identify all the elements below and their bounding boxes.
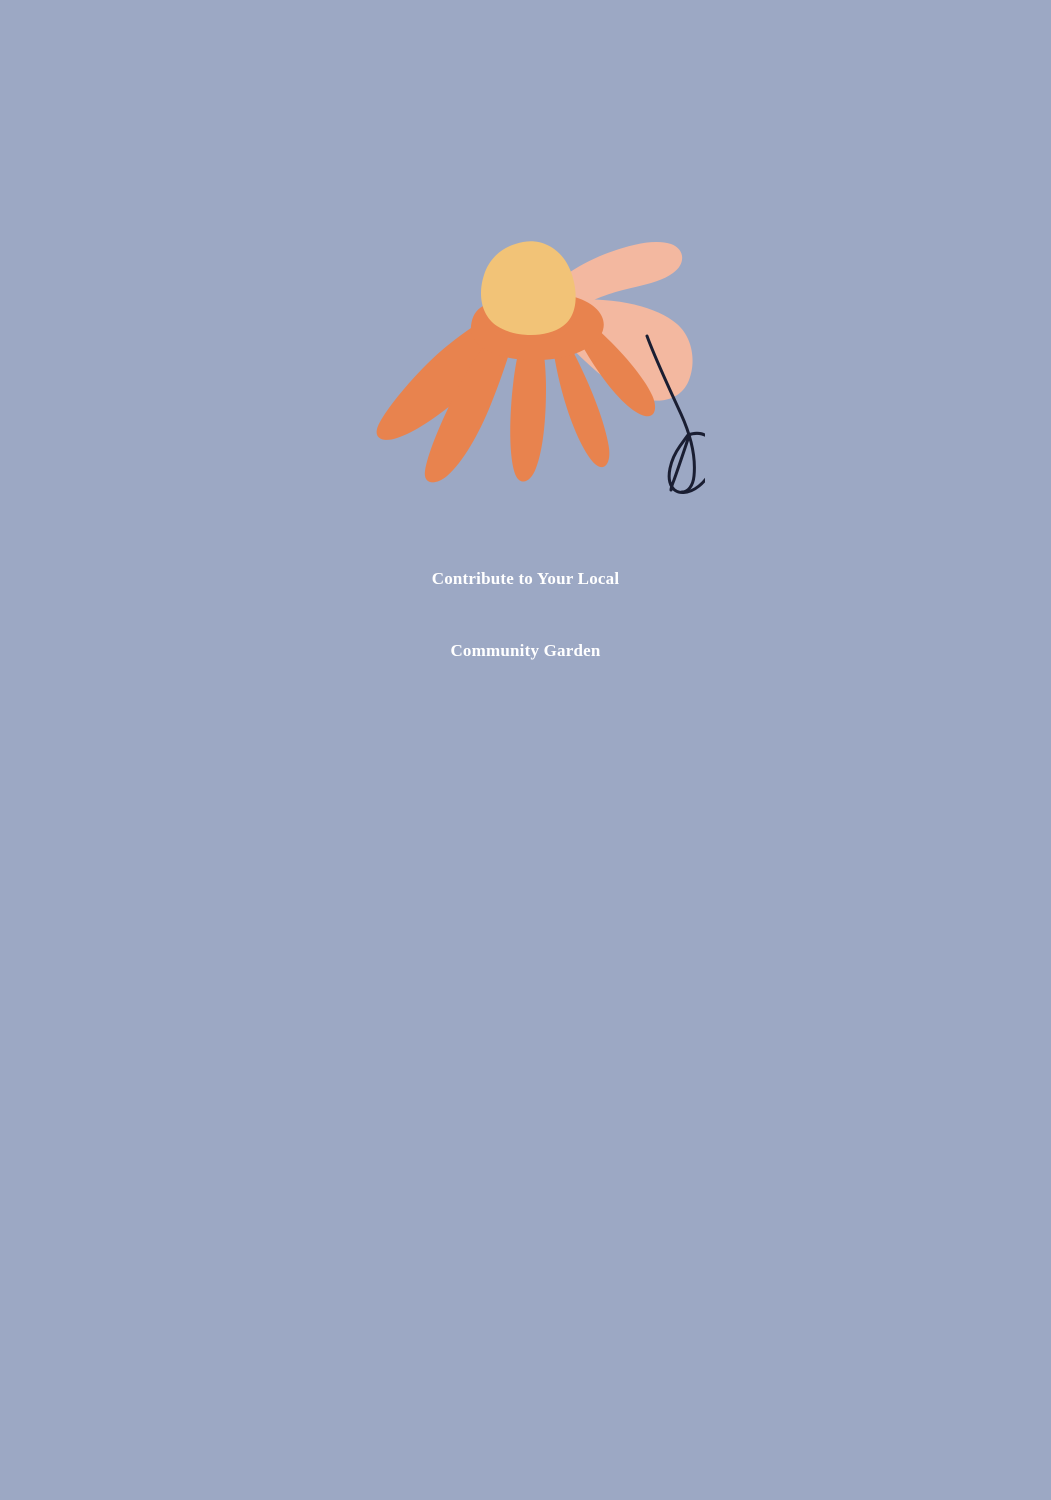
body-line-3: to spend time in nature with like-minded	[156, 828, 896, 879]
flower-center	[481, 241, 576, 335]
body-line-7: about growing food and flowers for other…	[156, 1032, 896, 1083]
body-line-10: After all, life’s a garden: dig it.	[156, 1185, 896, 1236]
flower-svg	[355, 228, 705, 496]
body-line-8: to enjoy. Pitch in to prepare garden bed…	[156, 1083, 896, 1134]
body-paragraph: Rolling your sleeves up to help at your …	[156, 726, 896, 1236]
body-line-5: in urban and rural areas, and thrive und…	[156, 930, 896, 981]
body-line-4: people. Community gardens can be found	[156, 879, 896, 930]
page-title-line-1: Contribute to Your Local	[90, 543, 961, 615]
page-title: Contribute to Your Local Community Garde…	[0, 543, 1051, 687]
poster-canvas: Contribute to Your Local Community Garde…	[0, 0, 1051, 1500]
body-line-2: community garden is a wholesome way	[156, 777, 896, 828]
page-title-line-2: Community Garden	[90, 615, 961, 687]
body-line-6: the stewardship of everyday people who c…	[156, 981, 896, 1032]
body-line-9: plant seeds, water plants, and harvest c…	[156, 1134, 896, 1185]
body-line-1: Rolling your sleeves up to help at your …	[156, 726, 896, 777]
coneflower-illustration	[355, 228, 705, 496]
